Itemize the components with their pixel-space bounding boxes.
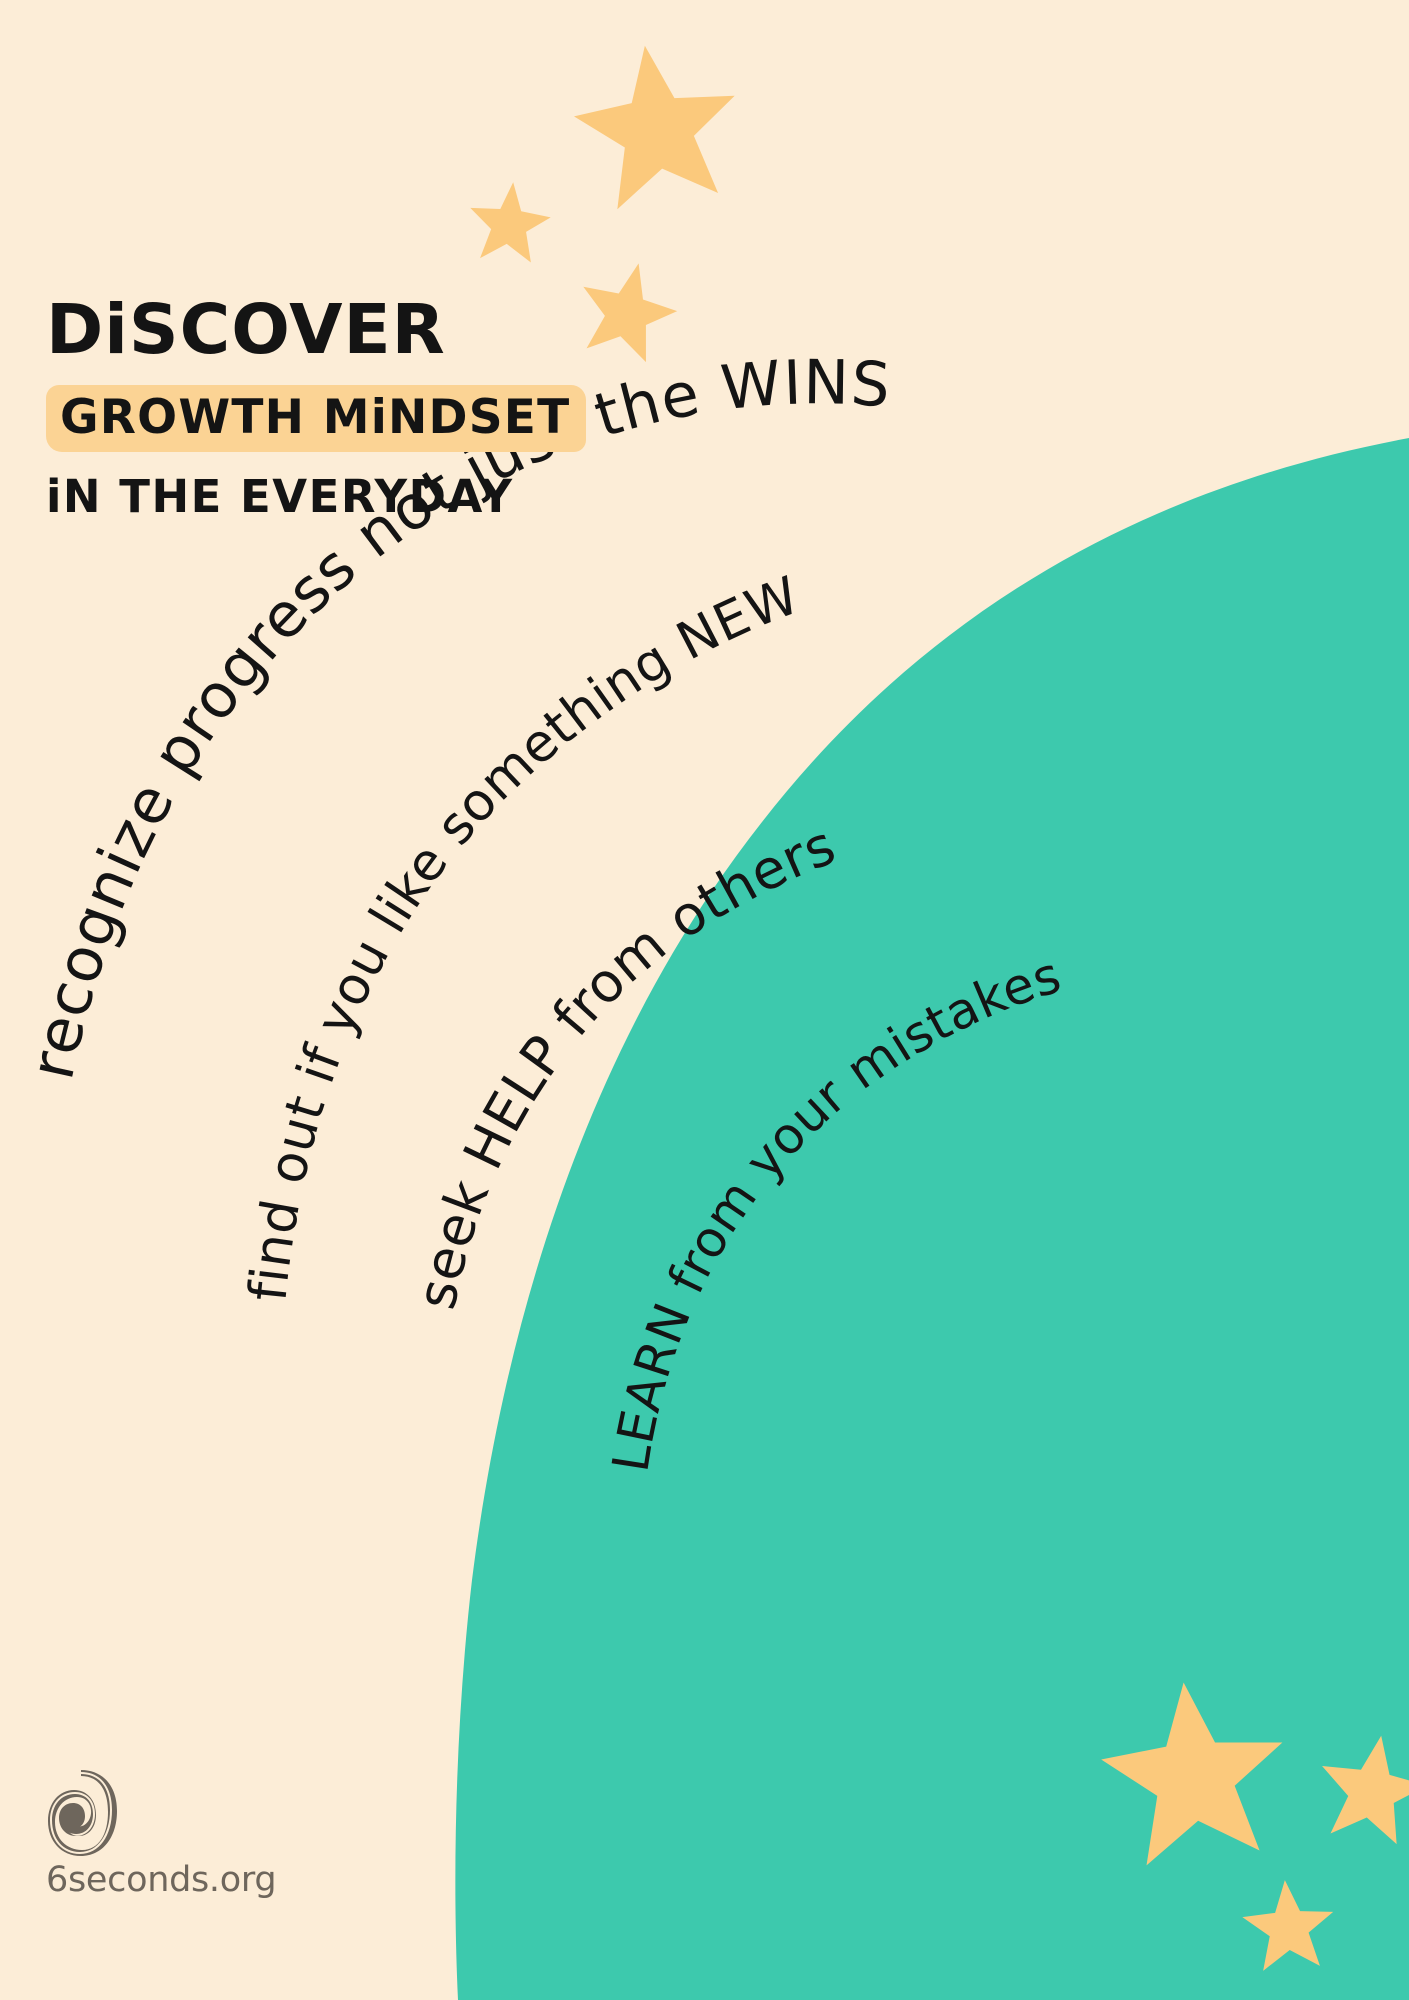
headline-line-in-the-everyday: iN THE EVERYDAY	[46, 474, 666, 519]
six-seconds-logo-icon	[44, 1770, 118, 1856]
headline-block: DiSCOVER GROWTH MiNDSET iN THE EVERYDAY	[46, 296, 666, 519]
logo-url-text: 6seconds.org	[46, 1860, 304, 1900]
headline-line-growth-mindset: GROWTH MiNDSET	[60, 394, 570, 441]
headline-line-discover: DiSCOVER	[46, 296, 666, 365]
logo-block: 6seconds.org	[44, 1770, 304, 1900]
star-top-large	[566, 34, 748, 213]
headline-highlight-wrapper: GROWTH MiNDSET	[46, 385, 586, 452]
star-top-small	[465, 178, 554, 265]
poster-root: recognize progress not just the WINS fin…	[0, 0, 1409, 2000]
